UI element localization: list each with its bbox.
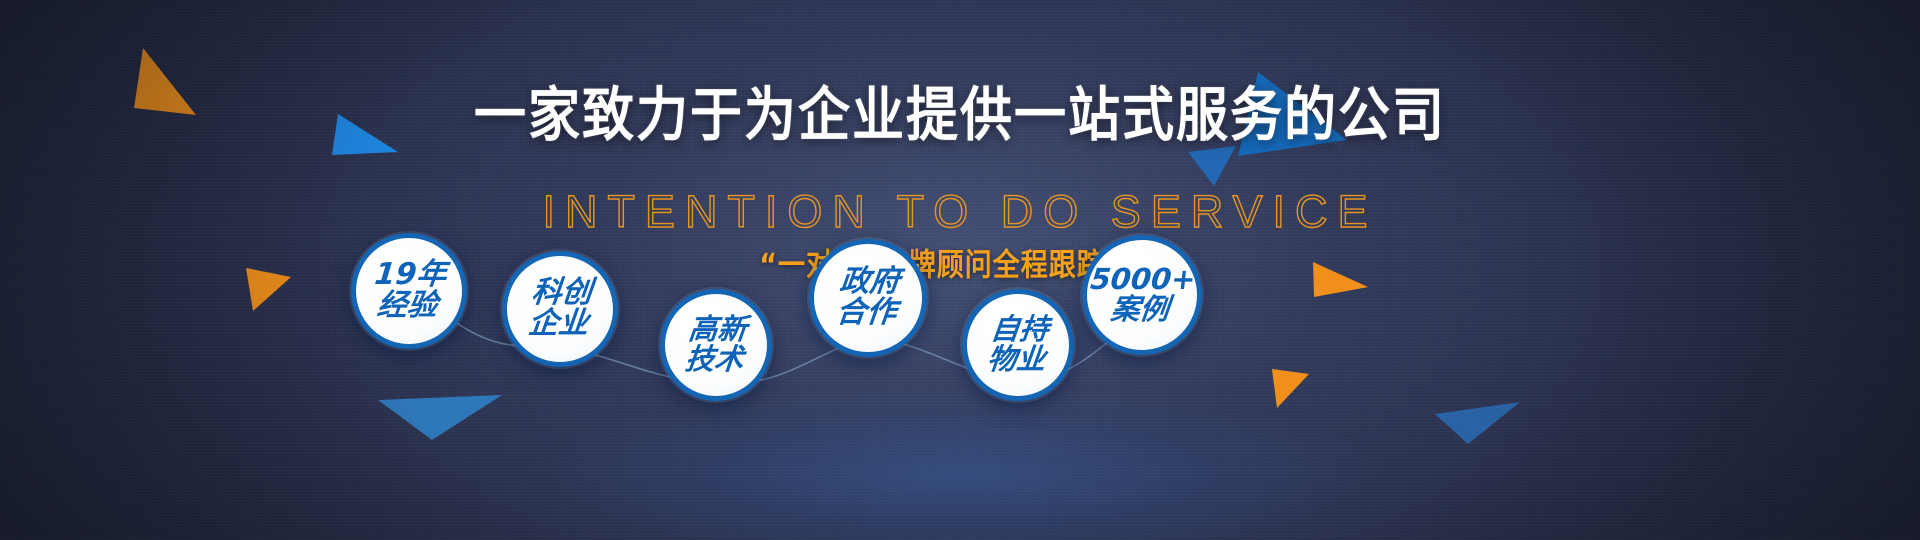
badge-label-tech-innovation: 科创 企业 bbox=[527, 278, 593, 339]
page-title: 一家致力于为企业提供一站式服务的公司 bbox=[0, 68, 1920, 152]
badge-label-years-experience: 19年 经验 bbox=[370, 260, 448, 321]
badge-tech-innovation[interactable]: 科创 企业 bbox=[502, 251, 618, 367]
badge-self-held-estate[interactable]: 自持 物业 bbox=[962, 289, 1074, 401]
badge-label-high-tech: 高新 技术 bbox=[684, 315, 748, 374]
badge-years-experience[interactable]: 19年 经验 bbox=[351, 233, 467, 349]
badge-label-cases-5000: 5000+ 案例 bbox=[1086, 265, 1197, 324]
badge-cases-5000[interactable]: 5000+ 案例 bbox=[1082, 235, 1202, 355]
badge-label-gov-cooperation: 政府 合作 bbox=[835, 267, 901, 328]
tagline-service: “一对一”金牌顾问全程跟踪服务 bbox=[0, 240, 1920, 285]
promo-banner: 一家致力于为企业提供一站式服务的公司 INTENTION TO DO SERVI… bbox=[0, 0, 1920, 540]
subtitle-english: INTENTION TO DO SERVICE bbox=[0, 186, 1920, 238]
badge-gov-cooperation[interactable]: 政府 合作 bbox=[809, 239, 927, 357]
badge-high-tech[interactable]: 高新 技术 bbox=[660, 289, 772, 401]
badge-label-self-held-estate: 自持 物业 bbox=[986, 315, 1050, 374]
